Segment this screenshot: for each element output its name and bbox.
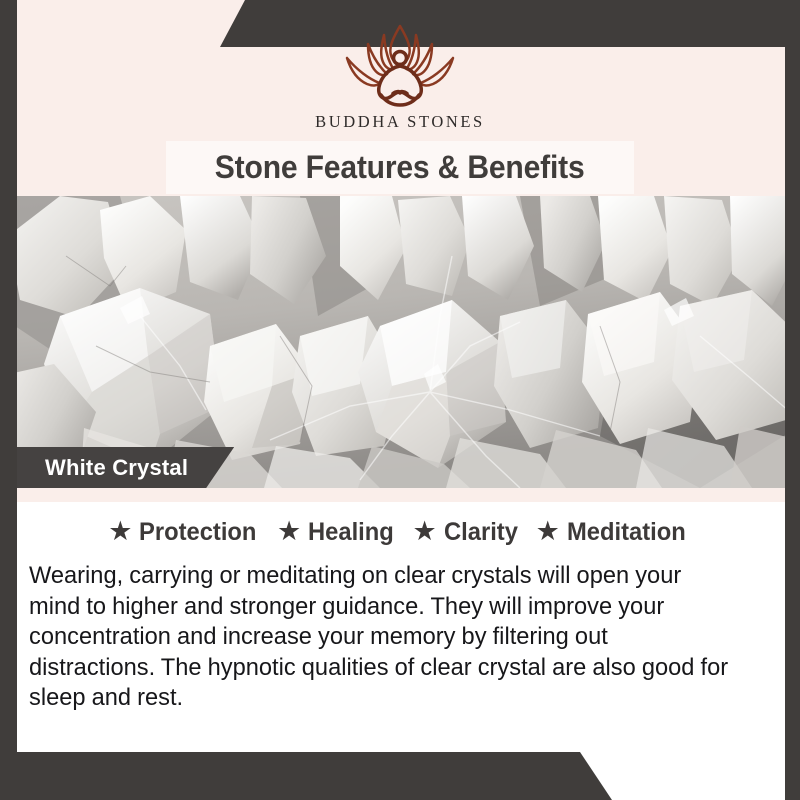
benefit-label: Meditation xyxy=(567,518,686,547)
stone-name-label: White Crystal xyxy=(45,455,188,481)
star-icon: ★ xyxy=(108,518,132,545)
frame-accent-right xyxy=(785,47,800,800)
stone-name-banner: White Crystal xyxy=(17,447,234,488)
stone-info-poster: BUDDHA STONES Stone Features & Benefits xyxy=(0,0,800,800)
benefit-label: Protection xyxy=(139,518,256,547)
page-title: Stone Features & Benefits xyxy=(215,149,585,186)
crystal-photo: White Crystal xyxy=(0,196,800,488)
lotus-meditation-icon xyxy=(325,22,475,108)
star-icon: ★ xyxy=(277,518,301,545)
description-text: Wearing, carrying or meditating on clear… xyxy=(29,561,732,714)
title-plate: Stone Features & Benefits xyxy=(166,141,634,194)
benefit-label: Clarity xyxy=(444,518,518,547)
benefits-row: ★ Protection ★ Healing ★ Clarity ★ Medit… xyxy=(0,518,800,547)
benefit-item-protection: ★ Protection xyxy=(108,518,263,547)
content-tint-strip xyxy=(17,488,785,502)
star-icon: ★ xyxy=(536,518,560,545)
frame-accent-bottom-left xyxy=(0,752,612,800)
star-icon: ★ xyxy=(413,518,437,545)
benefit-item-clarity: ★ Clarity xyxy=(413,518,522,547)
brand-block: BUDDHA STONES xyxy=(0,22,800,132)
benefit-item-meditation: ★ Meditation xyxy=(536,518,692,547)
benefit-label: Healing xyxy=(308,518,394,547)
brand-name: BUDDHA STONES xyxy=(315,112,485,132)
benefit-item-healing: ★ Healing xyxy=(277,518,399,547)
